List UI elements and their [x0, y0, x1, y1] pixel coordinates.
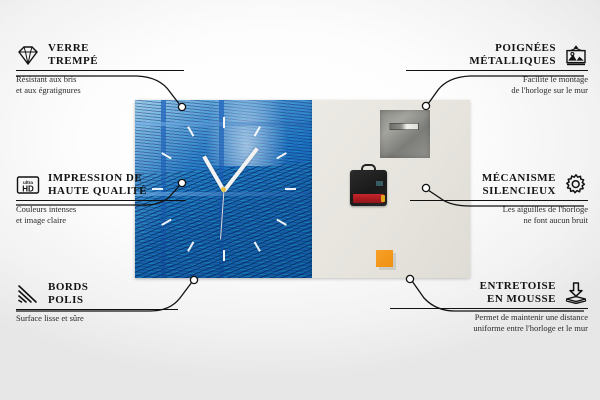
divider: [16, 200, 186, 201]
hand-cap: [221, 187, 226, 192]
picture-hanger-icon: [564, 43, 588, 67]
minute-hand: [222, 147, 258, 192]
divider: [406, 70, 588, 71]
callout-title: ENTRETOISEEN MOUSSE: [480, 280, 556, 305]
divider: [16, 70, 184, 71]
divider: [390, 308, 588, 309]
second-hand: [220, 189, 224, 239]
svg-text:HD: HD: [22, 184, 34, 193]
hanger-slot: [389, 123, 419, 130]
callout-entretoise-en-mousse: ENTRETOISEEN MOUSSE Permet de maintenir …: [390, 280, 588, 333]
divider: [410, 200, 588, 201]
clock-mechanism: [350, 170, 387, 206]
polished-edges-icon: [16, 282, 40, 306]
callout-description: Résistant aux briset aux égratignures: [16, 74, 184, 95]
callout-description: Facilite le montagede l'horloge sur le m…: [406, 74, 588, 95]
callout-poignees-metalliques: POIGNÉESMÉTALLIQUES Facilite le montaged…: [406, 42, 588, 95]
callout-verre-trempe: VERRETREMPÉ Résistant aux briset aux égr…: [16, 42, 184, 95]
diamond-icon: [16, 43, 40, 67]
callout-impression-haute-qualite: ultra HD IMPRESSION DEHAUTE QUALITÉ Coul…: [16, 172, 186, 225]
infographic-stage: VERRETREMPÉ Résistant aux briset aux égr…: [0, 0, 600, 400]
divider: [16, 309, 178, 310]
mechanism-hook: [361, 164, 376, 172]
battery: [353, 194, 384, 203]
metal-hanger-plate: [380, 110, 430, 158]
callout-bords-polis: BORDSPOLIS Surface lisse et sûre: [16, 281, 178, 324]
mechanism-chip: [376, 181, 383, 186]
callout-title: MÉCANISMESILENCIEUX: [482, 172, 556, 197]
foam-spacer: [376, 250, 393, 267]
ultra-hd-icon: ultra HD: [16, 173, 40, 197]
callout-title: POIGNÉESMÉTALLIQUES: [469, 42, 556, 67]
callout-mecanisme-silencieux: MÉCANISMESILENCIEUX Les aiguilles de l'h…: [410, 172, 588, 225]
gear-icon: [564, 173, 588, 197]
callout-title: BORDSPOLIS: [48, 281, 88, 306]
foam-spacer-icon: [564, 281, 588, 305]
callout-description: Les aiguilles de l'horlogene font aucun …: [410, 204, 588, 225]
callout-title: IMPRESSION DEHAUTE QUALITÉ: [48, 172, 147, 197]
callout-title: VERRETREMPÉ: [48, 42, 98, 67]
callout-description: Couleurs intenseset image claire: [16, 204, 186, 225]
callout-description: Permet de maintenir une distanceuniforme…: [390, 312, 588, 333]
callout-description: Surface lisse et sûre: [16, 313, 178, 324]
